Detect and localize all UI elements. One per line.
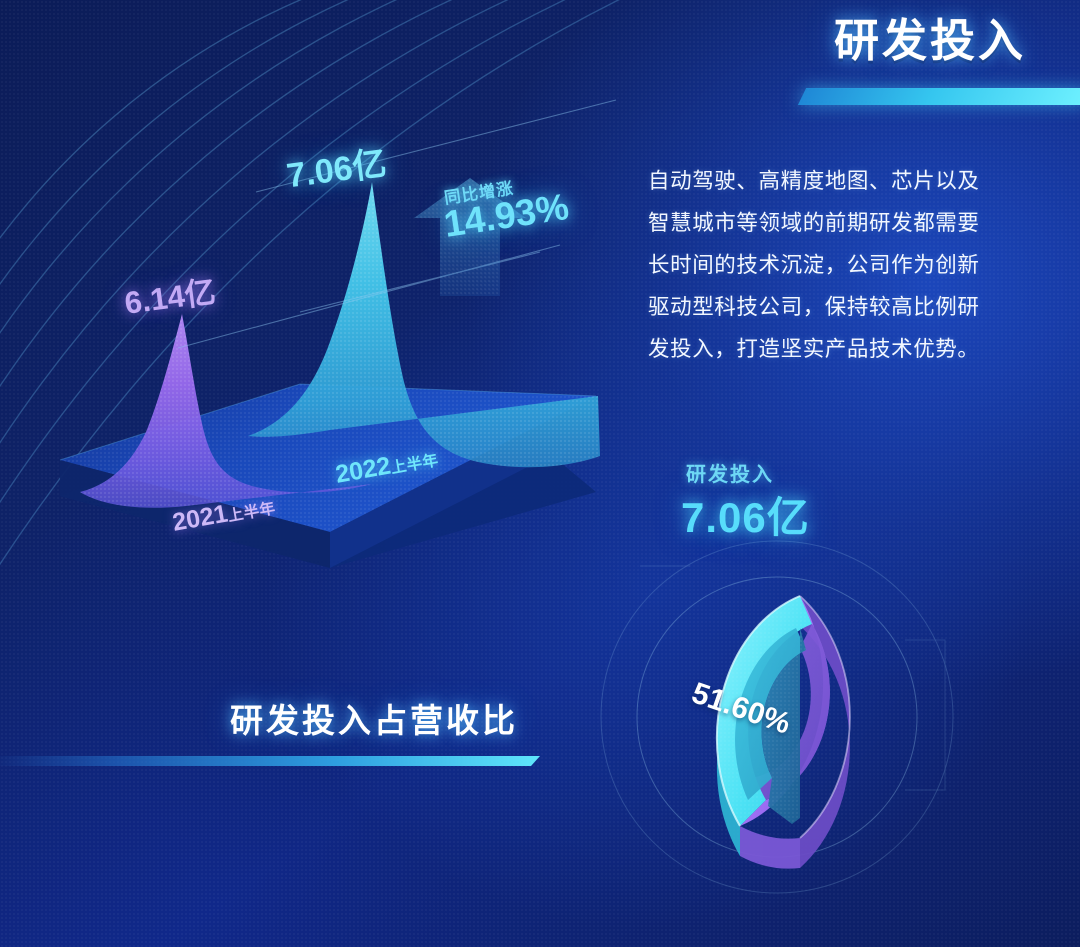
description-line: 智慧城市等领域的前期研发都需要 (648, 202, 1020, 244)
description-line: 驱动型科技公司，保持较高比例研 (648, 286, 1020, 328)
section-underline-bar (0, 756, 540, 766)
description-line: 长时间的技术沉淀，公司作为创新 (648, 244, 1020, 286)
description-line: 自动驾驶、高精度地图、芯片以及 (648, 160, 1020, 202)
description-line: 发投入，打造坚实产品技术优势。 (648, 328, 1020, 370)
page-title: 研发投入 (795, 16, 1065, 66)
section-title: 研发投入占营收比 (230, 694, 518, 742)
title-underline-bar (798, 88, 1080, 105)
decorative-arc-rings (0, 0, 1080, 947)
description-paragraph: 自动驾驶、高精度地图、芯片以及 智慧城市等领域的前期研发都需要 长时间的技术沉淀… (648, 160, 1020, 370)
kpi-value: 7.06亿 (681, 484, 810, 545)
infographic-canvas: 研发投入 自动驾驶、高精度地图、芯片以及 智慧城市等领域的前期研发都需要 长时间… (0, 0, 1080, 947)
kpi-label: 研发投入 (686, 458, 774, 487)
